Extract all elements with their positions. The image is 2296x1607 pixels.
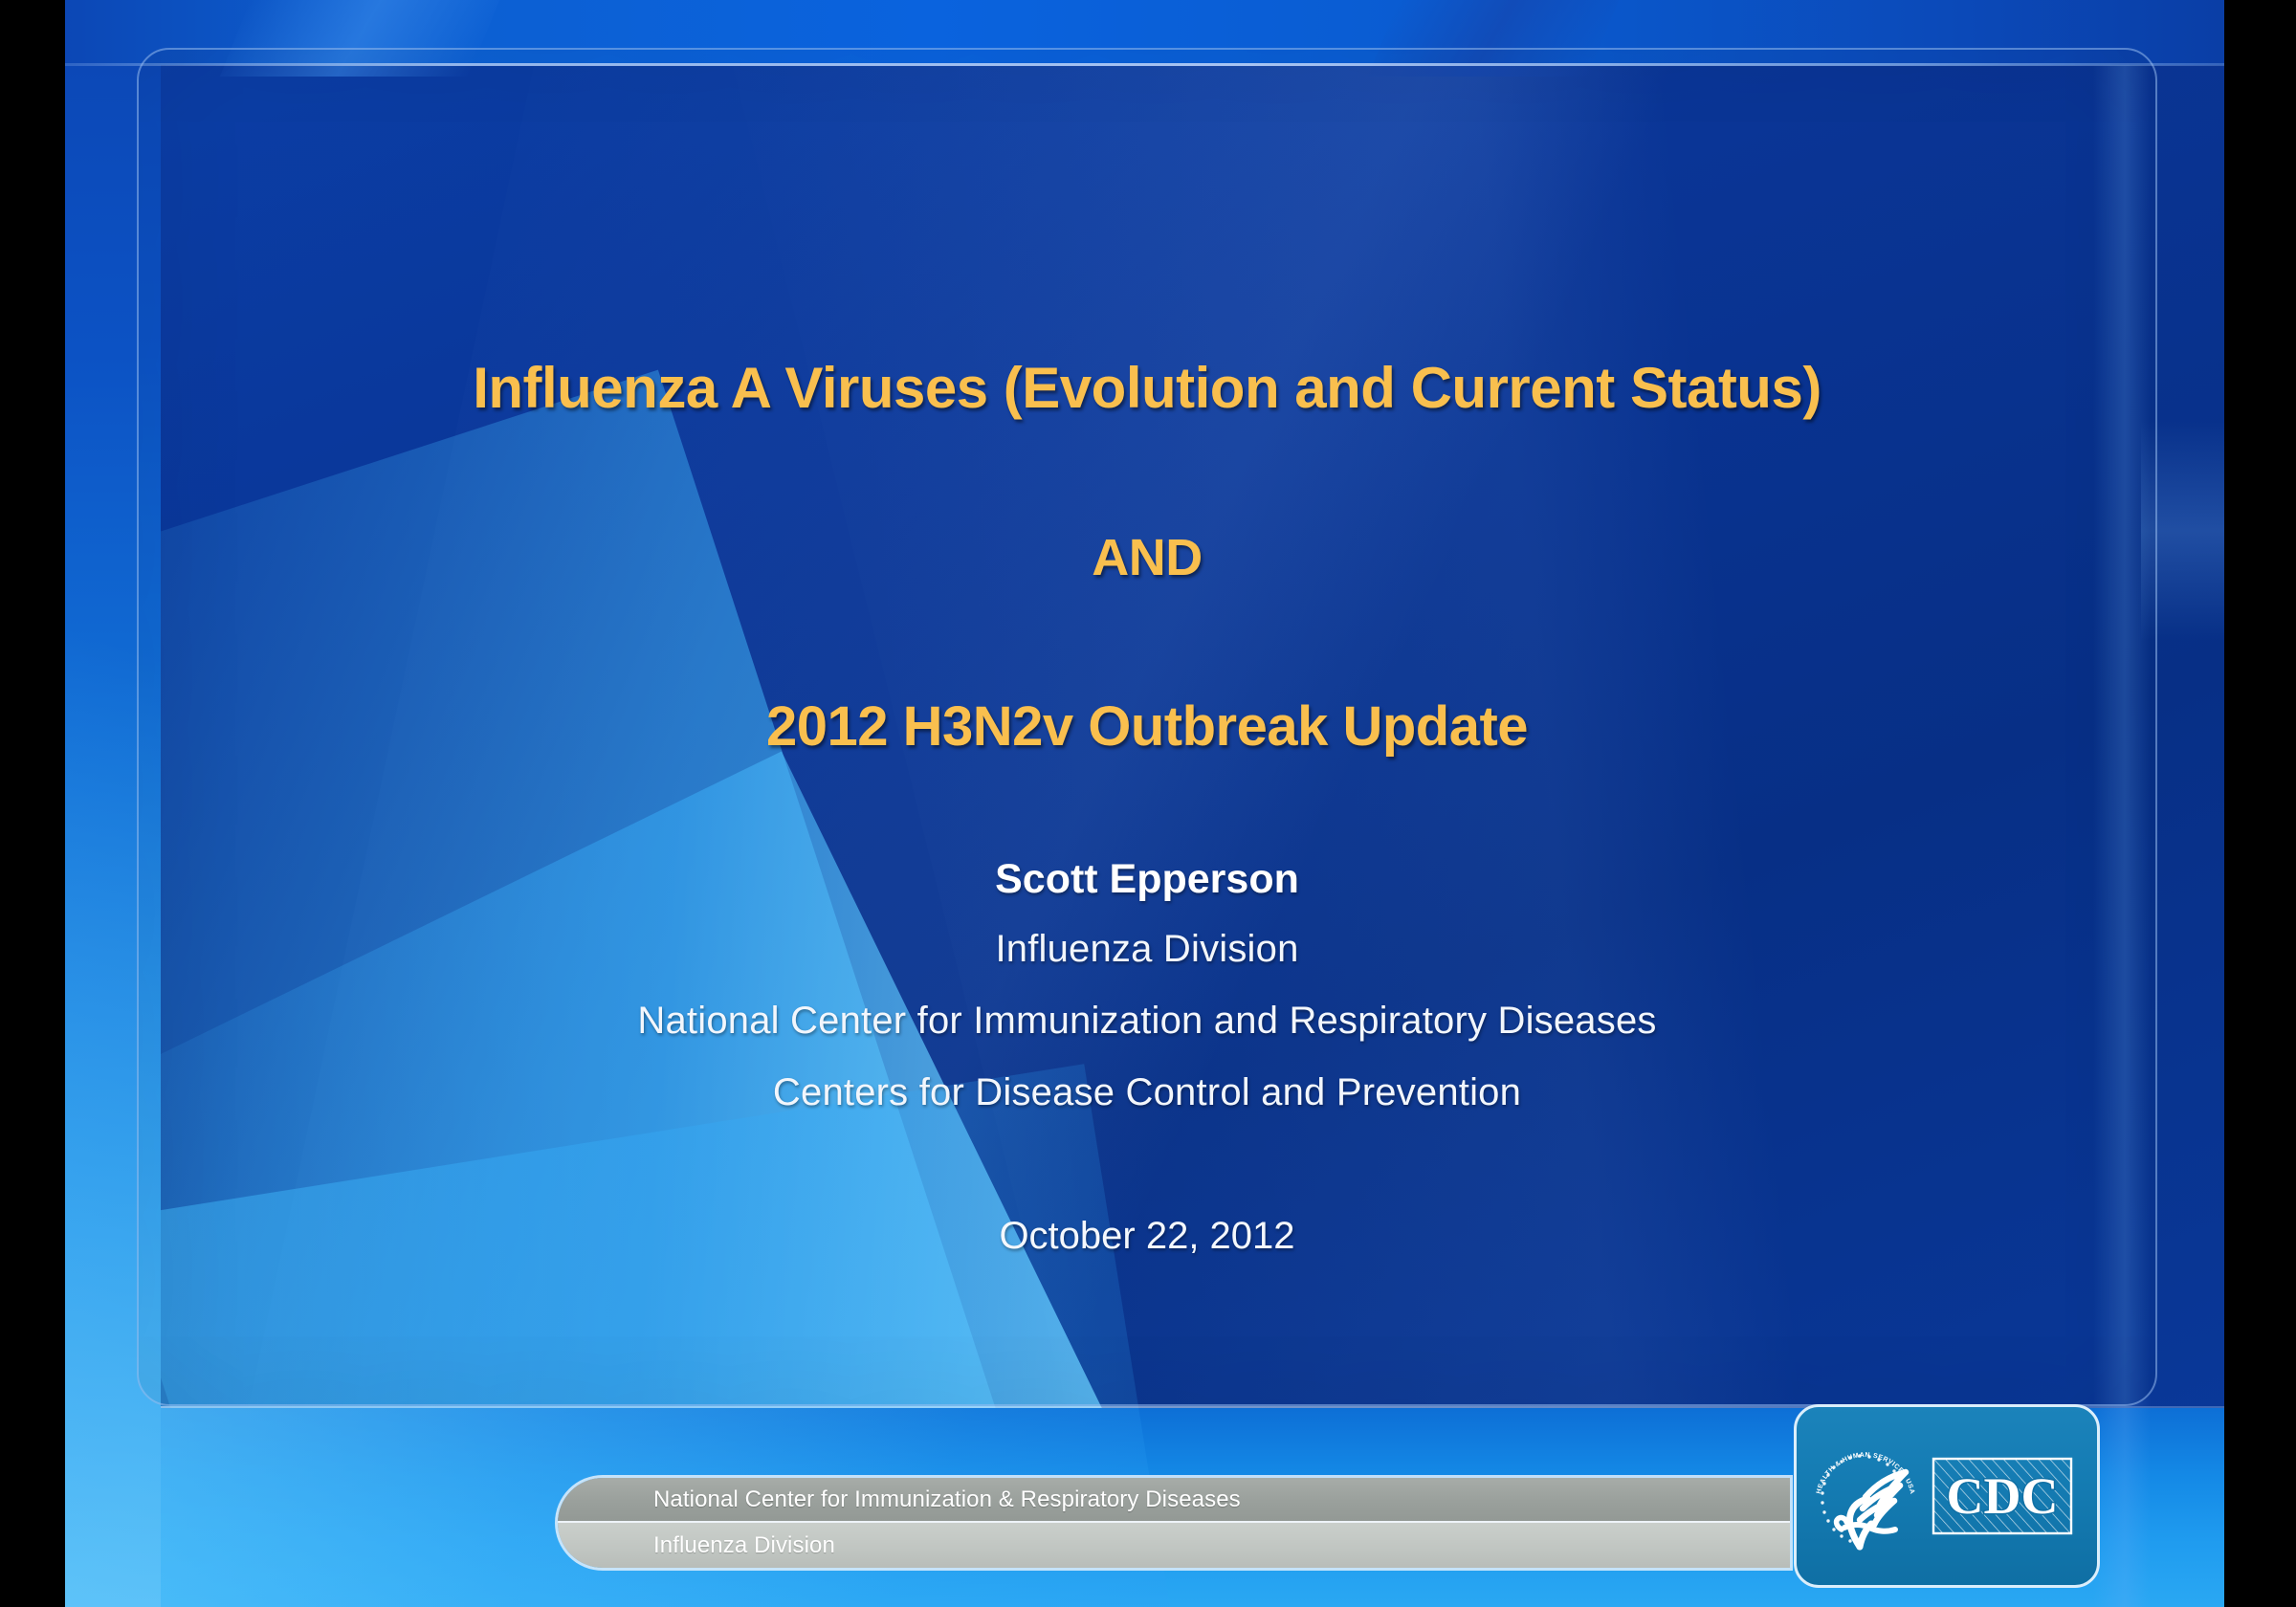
hhs-eagle-icon: HEALTH & HUMAN SERVICES USA [1802,1424,1929,1568]
presentation-slide: Influenza A Viruses (Evolution and Curre… [65,0,2224,1607]
presentation-date: October 22, 2012 [137,1215,2157,1258]
cdc-wordmark-text: CDC [1947,1467,2059,1525]
footer-bar-division-label: Influenza Division [558,1523,1790,1568]
affiliation-organization: Centers for Disease Control and Preventi… [137,1071,2157,1114]
slide-title-conjunction: AND [137,531,2157,585]
slide-title: Influenza A Viruses (Evolution and Curre… [137,358,2157,418]
affiliation-division: Influenza Division [137,928,2157,971]
footer-bar-center-label: National Center for Immunization & Respi… [558,1478,1790,1523]
slide-stage: Influenza A Viruses (Evolution and Curre… [0,0,2296,1607]
cdc-wordmark-icon: CDC [1931,1456,2074,1536]
presenter-name: Scott Epperson [137,856,2157,903]
slide-text-block: Influenza A Viruses (Evolution and Curre… [137,48,2157,1406]
affiliation-center: National Center for Immunization and Res… [137,1000,2157,1043]
slide-subtitle: 2012 H3N2v Outbreak Update [137,698,2157,757]
footer-bar-group: National Center for Immunization & Respi… [558,1478,1790,1568]
cdc-logo: HEALTH & HUMAN SERVICES USA [1794,1404,2100,1588]
